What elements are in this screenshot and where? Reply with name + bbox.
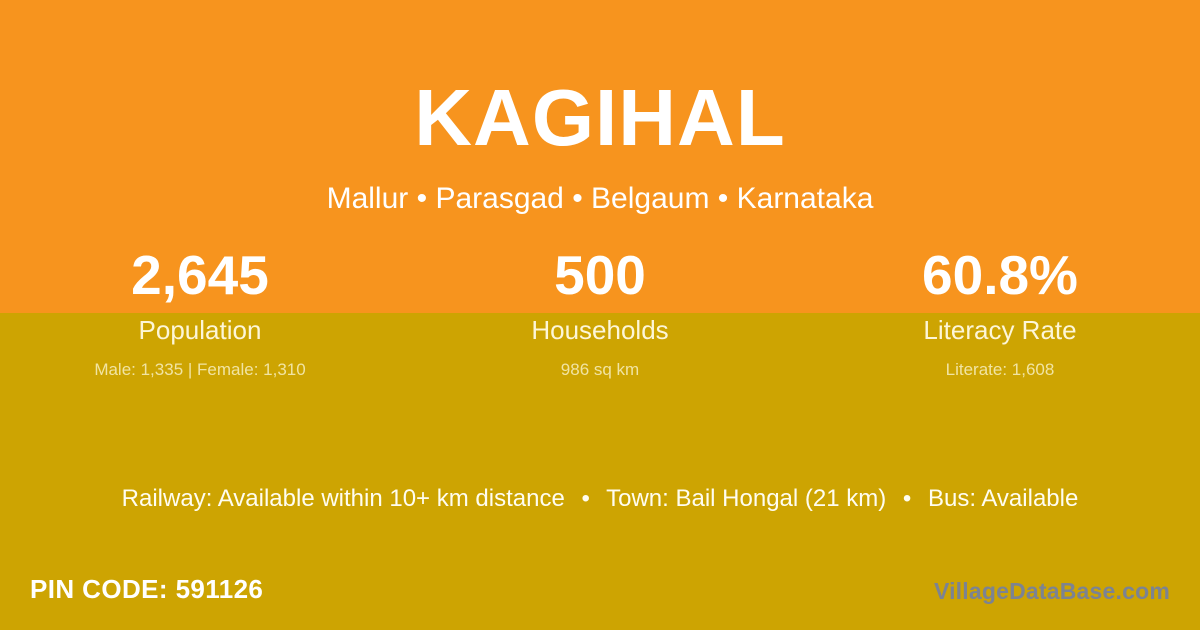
stats-row: 2,645 Population Male: 1,335 | Female: 1… — [0, 243, 1200, 381]
stat-card-households: 500 Households 986 sq km — [400, 243, 800, 381]
stat-value: 2,645 — [0, 243, 400, 308]
page-title: KAGIHAL — [0, 0, 1200, 158]
card-header: KAGIHAL Mallur • Parasgad • Belgaum • Ka… — [0, 0, 1200, 215]
stat-detail: Male: 1,335 | Female: 1,310 — [0, 346, 400, 381]
stat-value: 60.8% — [800, 243, 1200, 308]
pin-code-label: PIN CODE: 591126 — [30, 574, 263, 605]
stat-label: Population — [0, 308, 400, 347]
stat-detail: Literate: 1,608 — [800, 346, 1200, 381]
breadcrumb: Mallur • Parasgad • Belgaum • Karnataka — [0, 158, 1200, 215]
amenity-bus: Bus: Available — [928, 485, 1078, 512]
bullet-separator-icon: • — [893, 485, 921, 512]
stat-label: Households — [400, 308, 800, 347]
site-brand-watermark: VillageDataBase.com — [934, 578, 1170, 605]
stat-card-population: 2,645 Population Male: 1,335 | Female: 1… — [0, 243, 400, 381]
bullet-separator-icon: • — [571, 485, 599, 512]
village-info-card: KAGIHAL Mallur • Parasgad • Belgaum • Ka… — [0, 0, 1200, 630]
stat-detail: 986 sq km — [400, 346, 800, 381]
stat-value: 500 — [400, 243, 800, 308]
amenity-railway: Railway: Available within 10+ km distanc… — [122, 485, 565, 512]
amenities-line: Railway: Available within 10+ km distanc… — [0, 483, 1200, 515]
stat-card-literacy-rate: 60.8% Literacy Rate Literate: 1,608 — [800, 243, 1200, 381]
amenity-town: Town: Bail Hongal (21 km) — [606, 485, 886, 512]
stat-label: Literacy Rate — [800, 308, 1200, 347]
